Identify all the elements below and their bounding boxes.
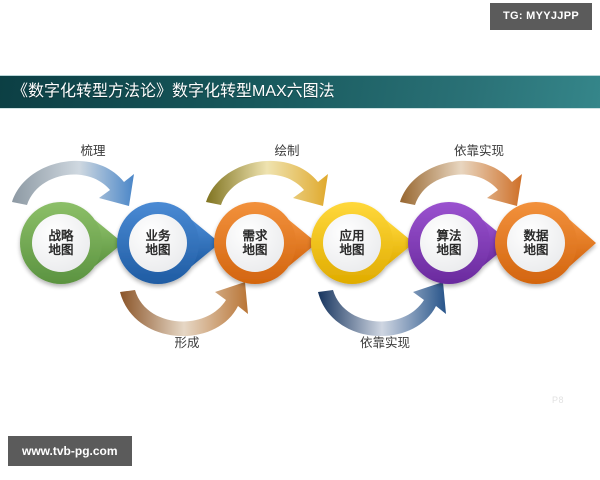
arc-arrow-yikaoshixian-top [400, 161, 522, 206]
site-watermark: www.tvb-pg.com [8, 436, 132, 466]
arc-arrow-xingcheng [120, 282, 248, 336]
arc-label-yikaoshixian-bottom: 依靠实现 [360, 332, 410, 351]
node-strategy-map [20, 202, 123, 284]
node-application-map [311, 202, 414, 284]
node-requirement-map [214, 202, 317, 284]
slide-title-bar: 《数字化转型方法论》数字化转型MAX六图法 [0, 75, 600, 109]
node-data-map [495, 202, 596, 284]
arc-arrow-yikaoshixian-bottom [318, 282, 446, 336]
arc-label-xingcheng: 形成 [174, 332, 199, 351]
arc-label-shuli: 梳理 [80, 140, 105, 159]
page-title: 《数字化转型方法论》数字化转型MAX六图法 [0, 84, 335, 100]
arc-label-yikaoshixian-top: 依靠实现 [454, 140, 504, 159]
arc-arrow-huizhi [206, 161, 328, 206]
slide-canvas: TG: MYYJJPP 《数字化转型方法论》数字化转型MAX六图法 [0, 0, 600, 480]
node-business-map [117, 202, 220, 284]
telegram-watermark-badge: TG: MYYJJPP [490, 3, 592, 30]
arc-arrow-shuli [12, 161, 134, 206]
process-diagram: 战略 地图 业务 地图 需求 地图 应用 地图 算法 地图 数据 地图 梳理 绘… [0, 110, 600, 410]
page-number: P8 [552, 395, 564, 405]
arc-label-huizhi: 绘制 [274, 140, 299, 159]
